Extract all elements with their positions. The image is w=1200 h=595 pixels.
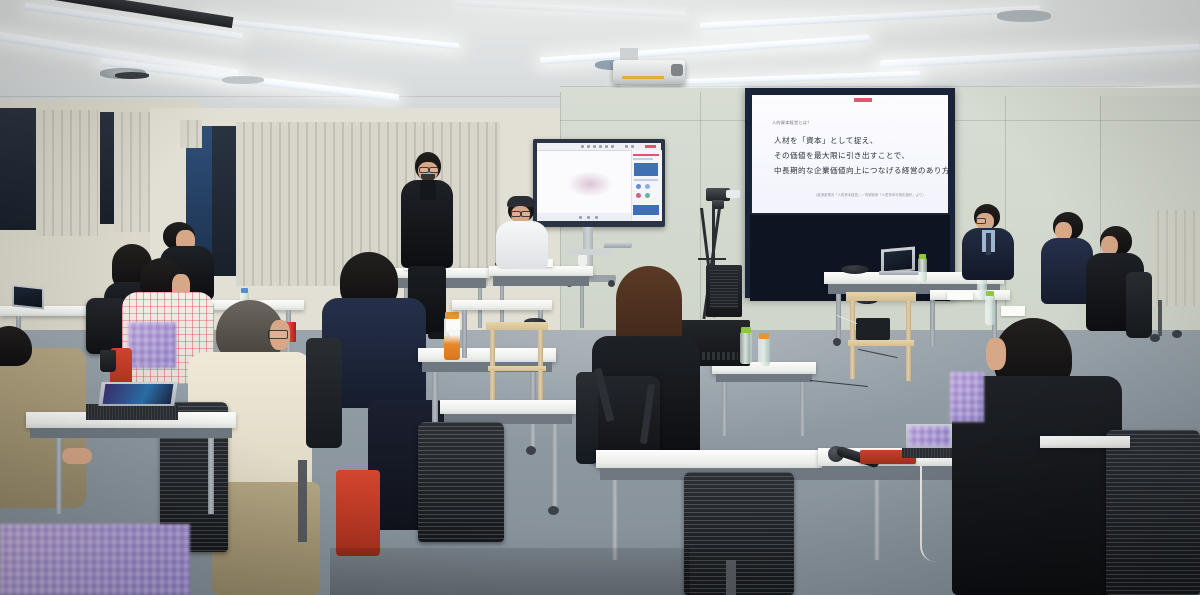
blinds-right [1150, 210, 1200, 306]
side-table-shelf [488, 366, 546, 371]
desk-leg [208, 438, 214, 514]
laptop-on-stand [603, 243, 632, 248]
coffee-cup [100, 350, 116, 372]
desk-leg [580, 286, 584, 328]
window-dark [212, 126, 238, 276]
bottle-cap [741, 327, 751, 333]
cable [920, 466, 936, 562]
stand-caster [608, 280, 615, 287]
side-table-top [846, 292, 916, 301]
display-content-blur [567, 171, 613, 197]
laptop-keyboard [902, 448, 954, 458]
attendee-right-front-face [986, 338, 1006, 370]
toolbar-icon [605, 145, 608, 148]
chair[interactable] [1106, 430, 1200, 595]
side-table-top [486, 322, 548, 330]
statusbar-icon [579, 216, 582, 219]
toolbar-icon [587, 145, 590, 148]
sidebar-thumb [634, 163, 658, 176]
toolbar-icon [611, 145, 614, 148]
slide-title: 人的資本経営とは？ [772, 120, 812, 126]
projector-lens [671, 64, 683, 76]
laptop-screen [884, 250, 912, 271]
blinds-left [36, 110, 98, 236]
ceiling-panel-seam [0, 96, 560, 97]
chair[interactable] [418, 422, 504, 542]
slide-footnote: （経済産業省「人的資本経営」／内閣官房「人的資本可視化指針」より） [814, 192, 926, 197]
bottle-cap [241, 288, 248, 293]
sidebar-icon [645, 184, 650, 189]
flat-panel-screen [537, 143, 661, 221]
desk-leg [836, 294, 841, 342]
presenter-standing-collar [420, 180, 436, 200]
toolbar-icon [593, 145, 596, 148]
sidebar-footer [633, 205, 659, 215]
projection-screen-slide: 人的資本経営とは？ 人材を「資本」として捉え、 その価値を最大限に引き出すことで… [752, 95, 948, 213]
toolbar-icon [625, 145, 628, 148]
orange-drink-bottle [444, 318, 460, 360]
attendee-khaki-hand [62, 448, 92, 464]
water-bottle [985, 295, 995, 325]
display-statusbar [537, 213, 631, 221]
desk-apron [30, 428, 232, 438]
tripod-brace [698, 258, 726, 260]
desk-apron [716, 374, 812, 382]
name-placard [1001, 306, 1025, 316]
right-desk-far [1040, 436, 1130, 448]
glasses-icon [521, 211, 531, 217]
laptop-screen-blurred [908, 426, 950, 446]
name-placard [947, 291, 973, 300]
desk-leg [462, 310, 467, 358]
slide-line: その価値を最大限に引き出すことで、 [774, 150, 909, 161]
toolbar-accent [645, 145, 656, 148]
sidebar-band [634, 179, 658, 181]
center-left-desk [418, 348, 556, 362]
ceiling-panel-seam [560, 86, 1200, 87]
chair-caster [1150, 334, 1160, 342]
statusbar-icon [587, 216, 590, 219]
sidebar-icon [645, 193, 650, 198]
desk-leg [930, 294, 935, 346]
bottle-cap [759, 333, 769, 339]
bottle-cap [445, 312, 459, 319]
glasses-icon [429, 167, 439, 173]
chair-post [1158, 300, 1162, 336]
desk-leg [874, 480, 880, 560]
blinds-left [114, 112, 150, 232]
desk-leg [800, 374, 805, 436]
presenter-seated-torso [496, 221, 548, 269]
chair[interactable] [306, 338, 342, 448]
desk-caster [833, 338, 841, 346]
laptop-keyboard [86, 404, 178, 420]
laptop-screen [14, 287, 42, 308]
cup [578, 255, 587, 267]
slide-line: 人材を「資本」として捉え、 [774, 135, 878, 146]
seminar-room-photo: 人的資本経営とは？ 人材を「資本」として捉え、 その価値を最大限に引き出すことで… [0, 0, 1200, 595]
glasses-icon [419, 167, 429, 173]
center-left-desk-2 [452, 300, 552, 310]
sidebar-icon [636, 193, 641, 198]
ceiling-vent [997, 10, 1051, 22]
ceiling-vent [222, 76, 264, 84]
panelist-suit-tie [986, 233, 991, 255]
toolbar-icon [631, 145, 634, 148]
toolbar-icon [599, 145, 602, 148]
speaker-grill [710, 270, 738, 308]
chair[interactable] [576, 372, 598, 464]
chair[interactable] [684, 472, 794, 595]
blinds-back [180, 120, 202, 148]
laptop-screen [103, 384, 174, 404]
center-left-desk-3 [440, 400, 576, 414]
projector-stripe [622, 76, 664, 79]
chair[interactable] [1126, 272, 1152, 338]
table-mic-puck [841, 265, 869, 274]
slide-accent-bar [854, 98, 872, 102]
water-bottle [758, 338, 770, 366]
desk-leg [552, 424, 558, 510]
side-table-shelf [848, 340, 914, 346]
glasses-icon [511, 211, 521, 217]
sidebar-band [633, 154, 659, 156]
floor-shadow [330, 548, 690, 595]
bottle-cap [919, 254, 926, 259]
toolbar-icon [581, 145, 584, 148]
chair-caster [1172, 330, 1182, 338]
window-dark [0, 108, 36, 230]
chair-post [726, 560, 736, 595]
camera-lens [726, 190, 740, 198]
sidebar-icon [636, 184, 641, 189]
window-dark [100, 112, 114, 224]
water-bottle [918, 258, 927, 282]
desk-leg [722, 374, 727, 436]
chair-post [298, 460, 307, 542]
desk-caster [526, 446, 536, 455]
glasses-icon [976, 218, 986, 224]
desk-caster [548, 506, 559, 515]
face-blur [950, 372, 984, 422]
laptop-base [879, 271, 919, 275]
ceiling-vent [115, 72, 149, 79]
laptop-screen-blurred [0, 524, 190, 595]
water-bottle [740, 332, 752, 364]
side-table-leg [490, 330, 495, 400]
desk-apron [493, 276, 589, 286]
display-stand-shelf [568, 249, 612, 255]
side-table-equipment [856, 318, 890, 340]
sidebar-band [633, 158, 653, 160]
slide-line: 中長期的な企業価値向上につなげる経営のあり方 [774, 165, 950, 176]
desk-leg [56, 438, 62, 514]
bottle-cap [986, 291, 994, 296]
glasses-icon [268, 330, 288, 339]
chair[interactable] [336, 470, 380, 556]
laptop-screen-blurred [128, 322, 176, 368]
statusbar-icon [595, 216, 598, 219]
